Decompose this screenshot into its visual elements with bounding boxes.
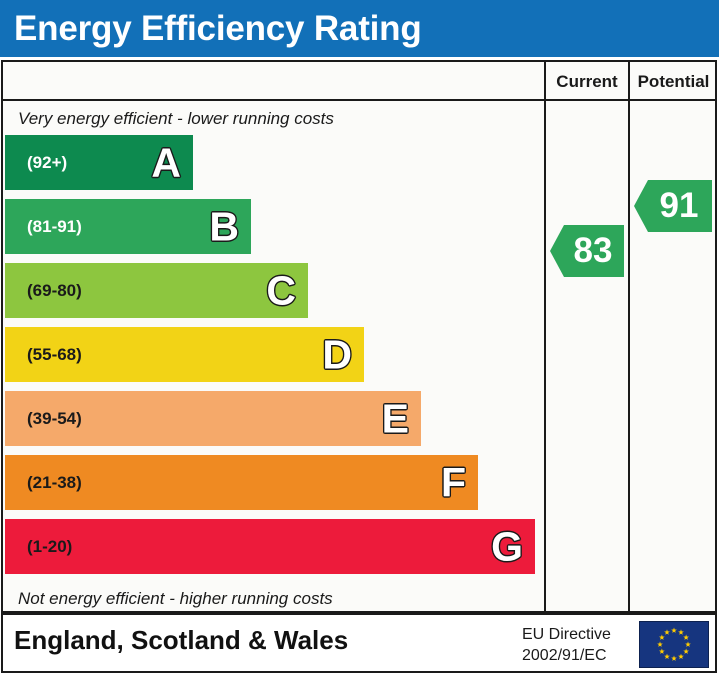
column-header-current: Current xyxy=(546,70,628,94)
band-row-f: (21-38)F xyxy=(5,455,478,510)
band-letter-f: F xyxy=(441,462,466,503)
rating-marker-potential: 91 xyxy=(634,180,712,232)
band-row-b: (81-91)B xyxy=(5,199,251,254)
eu-flag-star xyxy=(683,649,689,654)
header-row-divider xyxy=(1,99,717,101)
band-row-a: (92+)A xyxy=(5,135,193,190)
page-title: Energy Efficiency Rating xyxy=(14,8,422,50)
rating-marker-current: 83 xyxy=(550,225,624,277)
eu-flag-star xyxy=(664,654,670,659)
column-divider-current xyxy=(544,60,546,613)
band-range-c: (69-80) xyxy=(27,281,82,301)
eu-flag-star xyxy=(657,642,663,647)
band-range-b: (81-91) xyxy=(27,217,82,237)
band-row-d: (55-68)D xyxy=(5,327,364,382)
footer-region-label: England, Scotland & Wales xyxy=(14,625,348,656)
footer-directive-line2: 2002/91/EC xyxy=(522,645,611,666)
rating-bands: (92+)A(81-91)B(69-80)C(55-68)D(39-54)E(2… xyxy=(5,135,544,583)
band-letter-c: C xyxy=(266,270,296,311)
eu-flag-star xyxy=(659,649,665,654)
eu-flag-star xyxy=(671,628,677,633)
band-row-c: (69-80)C xyxy=(5,263,308,318)
rating-value-current: 83 xyxy=(574,231,613,270)
band-letter-a: A xyxy=(151,142,181,183)
eu-flag-star xyxy=(678,629,684,634)
column-header-potential: Potential xyxy=(630,70,717,94)
band-letter-d: D xyxy=(322,334,352,375)
band-letter-g: G xyxy=(491,526,523,567)
band-range-d: (55-68) xyxy=(27,345,82,365)
eu-flag-star xyxy=(683,635,689,640)
band-range-f: (21-38) xyxy=(27,473,82,493)
eu-flag-star xyxy=(659,635,665,640)
footer-directive-line1: EU Directive xyxy=(522,624,611,645)
band-range-a: (92+) xyxy=(27,153,67,173)
eu-flag-icon xyxy=(639,621,709,668)
band-row-e: (39-54)E xyxy=(5,391,421,446)
eu-flag-star xyxy=(685,642,691,647)
energy-efficiency-certificate: Energy Efficiency Rating Current Potenti… xyxy=(0,0,719,675)
band-row-g: (1-20)G xyxy=(5,519,535,574)
eu-flag-star xyxy=(678,654,684,659)
band-range-g: (1-20) xyxy=(27,537,72,557)
band-letter-b: B xyxy=(209,206,239,247)
band-letter-e: E xyxy=(382,398,409,439)
eu-flag-star xyxy=(671,656,677,661)
eu-flag-star xyxy=(664,629,670,634)
rating-value-potential: 91 xyxy=(660,186,699,225)
column-divider-potential xyxy=(628,60,630,613)
footer-directive: EU Directive 2002/91/EC xyxy=(522,624,611,666)
band-range-e: (39-54) xyxy=(27,409,82,429)
caption-top: Very energy efficient - lower running co… xyxy=(18,109,334,129)
caption-bottom: Not energy efficient - higher running co… xyxy=(18,589,333,609)
eu-flag-stars-svg xyxy=(640,622,708,667)
